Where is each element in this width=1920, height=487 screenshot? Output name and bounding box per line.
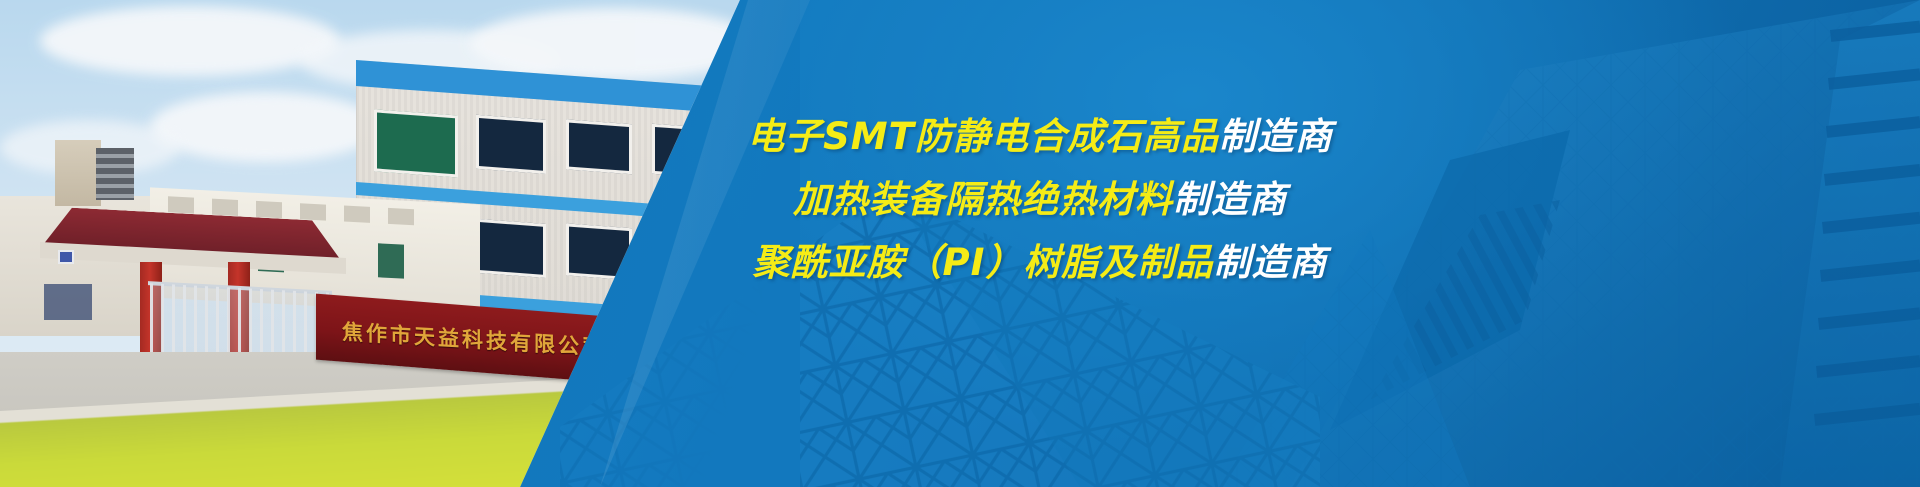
door bbox=[378, 243, 404, 278]
cloud bbox=[150, 92, 380, 162]
window bbox=[374, 109, 458, 177]
company-name-sign-text: 焦作市天益科技有限公司 bbox=[342, 316, 606, 362]
headline-line-2-plain: 制造商 bbox=[1173, 178, 1287, 221]
parapet-notch bbox=[300, 203, 326, 220]
rooftop-structure bbox=[55, 140, 101, 206]
parapet-notch bbox=[212, 199, 238, 216]
headline-stack: 电子SMT防静电合成石高品制造商 加热装备隔热绝热材料制造商 聚酰亚胺（PI）树… bbox=[690, 118, 1390, 281]
parapet-notch bbox=[256, 201, 282, 218]
headline-line-1-plain: 制造商 bbox=[1219, 115, 1333, 158]
cloud bbox=[40, 6, 340, 76]
parapet-notch bbox=[344, 206, 370, 223]
window bbox=[566, 119, 632, 174]
parapet-notch bbox=[388, 208, 414, 225]
parapet-notch bbox=[168, 196, 194, 213]
headline-line-1: 电子SMT防静电合成石高品制造商 bbox=[690, 118, 1390, 155]
headline-line-1-accent: 电子SMT防静电合成石高品 bbox=[747, 115, 1219, 158]
window bbox=[476, 219, 546, 278]
headline-line-3-plain: 制造商 bbox=[1213, 241, 1327, 284]
headline-line-2-accent: 加热装备隔热绝热材料 bbox=[793, 178, 1173, 221]
company-hero-banner: 焦作市天益科技有限公司 电子SMT防静电合成石高品制造商 加热装备隔热绝热材料制… bbox=[0, 0, 1920, 487]
rooftop-louver bbox=[96, 148, 134, 200]
headline-line-2: 加热装备隔热绝热材料制造商 bbox=[690, 181, 1390, 218]
wall-plaque bbox=[58, 250, 74, 264]
window bbox=[476, 115, 546, 174]
headline-line-3-accent: 聚酰亚胺（PI）树脂及制品 bbox=[753, 241, 1214, 284]
window bbox=[44, 284, 92, 320]
headline-line-3: 聚酰亚胺（PI）树脂及制品制造商 bbox=[690, 244, 1390, 281]
